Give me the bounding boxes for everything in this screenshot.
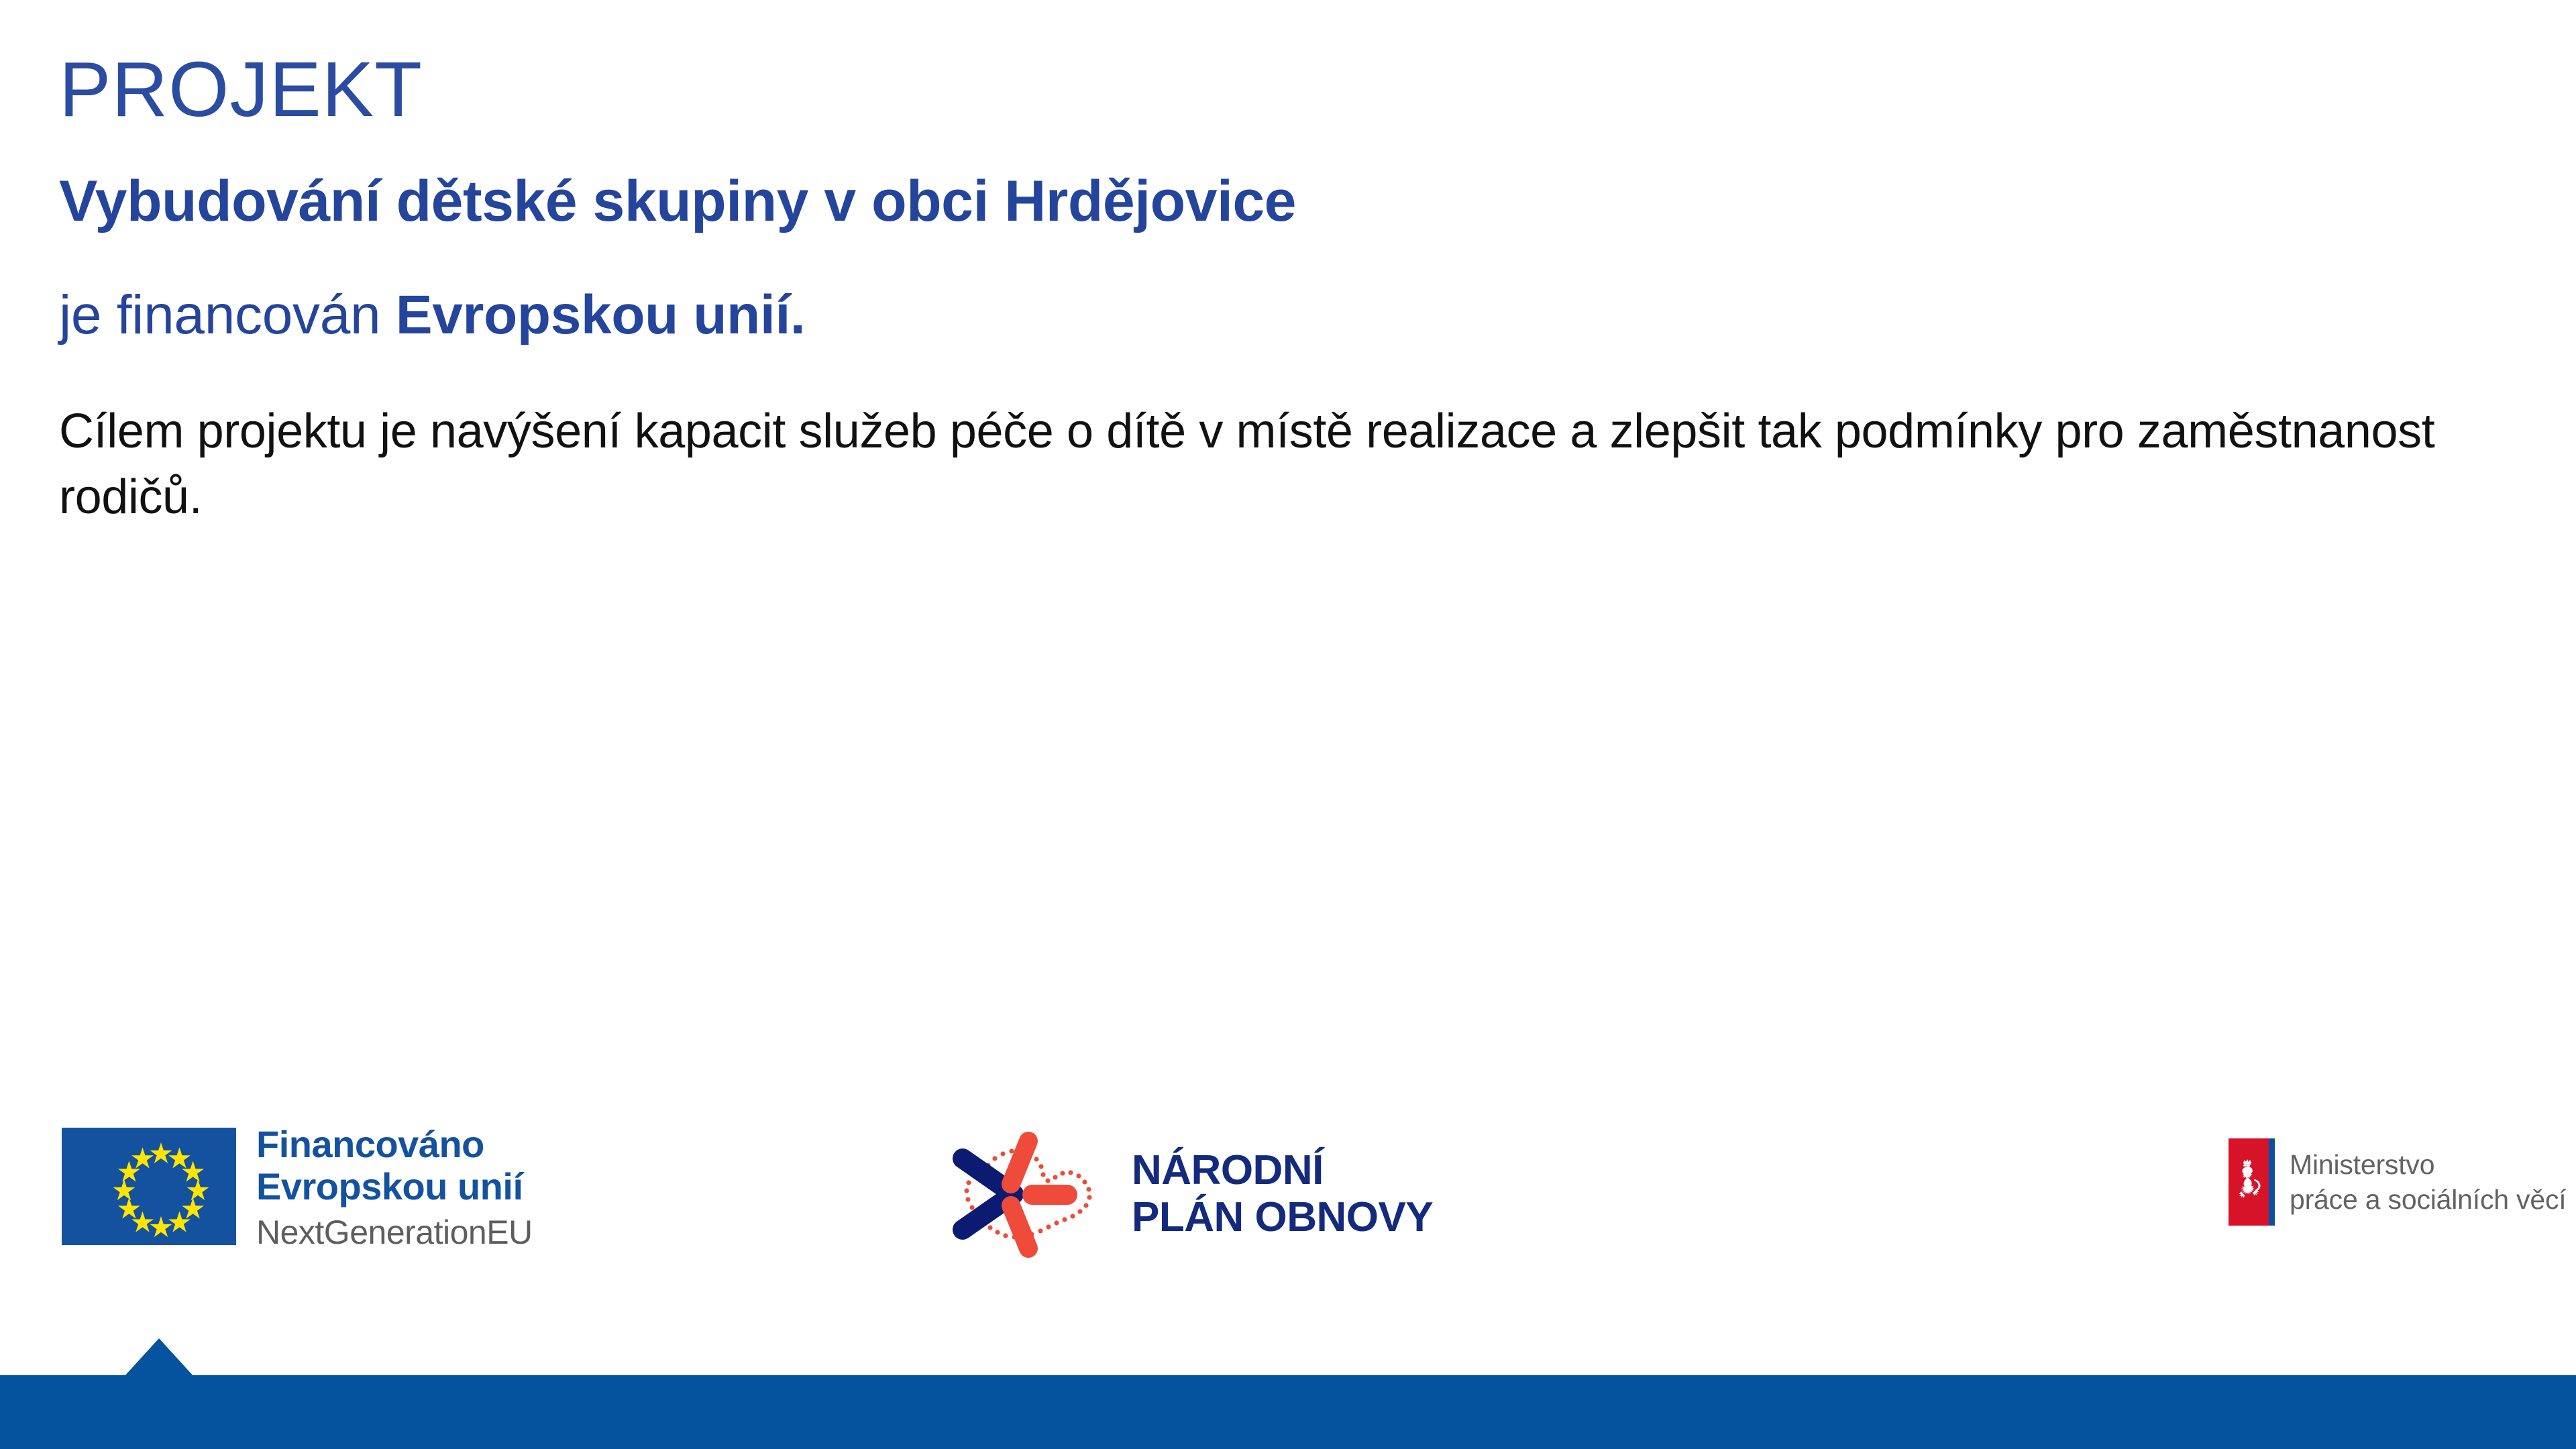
logo-strip: Financováno Evropskou unií NextGeneratio… <box>0 1110 2576 1285</box>
eu-logo-line-1: Financováno <box>256 1124 533 1166</box>
page-title: Vybudování dětské skupiny v obci Hrdějov… <box>59 168 2487 235</box>
bottom-bar-fill <box>0 1375 2576 1449</box>
npo-logo: NÁRODNÍ PLÁN OBNOVY <box>936 1124 1433 1265</box>
page-eyebrow: PROJEKT <box>59 47 2487 133</box>
czech-lion-flag-icon <box>2229 1138 2275 1226</box>
eu-stars-icon <box>62 1128 236 1245</box>
mpsv-logo: Ministerstvo práce a sociálních věcí <box>2229 1138 2566 1226</box>
eu-flag-icon <box>62 1128 236 1245</box>
eu-funding-logo: Financováno Evropskou unií NextGeneratio… <box>62 1124 533 1249</box>
project-description: Cílem projektu je navýšení kapacit služe… <box>59 399 2447 531</box>
bottom-decorative-bar <box>0 1338 2576 1449</box>
funding-statement-bold: Evropskou unií. <box>396 284 806 345</box>
eu-logo-nextgeneration: NextGenerationEU <box>256 1216 533 1249</box>
funding-statement: je financován Evropskou unií. <box>59 282 2487 348</box>
czech-lion-icon <box>2233 1158 2265 1206</box>
npo-mark-icon <box>936 1124 1124 1265</box>
funding-statement-normal: je financován <box>59 284 396 345</box>
mpsv-logo-text: Ministerstvo práce a sociálních věcí <box>2290 1147 2566 1218</box>
npo-logo-line-1: NÁRODNÍ <box>1132 1147 1433 1194</box>
bottom-bar-peak-icon <box>124 1338 194 1377</box>
npo-logo-text: NÁRODNÍ PLÁN OBNOVY <box>1132 1147 1433 1241</box>
eu-logo-line-2: Evropskou unií <box>256 1166 533 1208</box>
mpsv-logo-line-1: Ministerstvo <box>2290 1147 2566 1182</box>
eu-logo-text: Financováno Evropskou unií NextGeneratio… <box>256 1124 533 1249</box>
text-content-block: PROJEKT Vybudování dětské skupiny v obci… <box>59 47 2487 531</box>
npo-logo-line-2: PLÁN OBNOVY <box>1132 1194 1433 1241</box>
mpsv-logo-line-2: práce a sociálních věcí <box>2290 1182 2566 1217</box>
